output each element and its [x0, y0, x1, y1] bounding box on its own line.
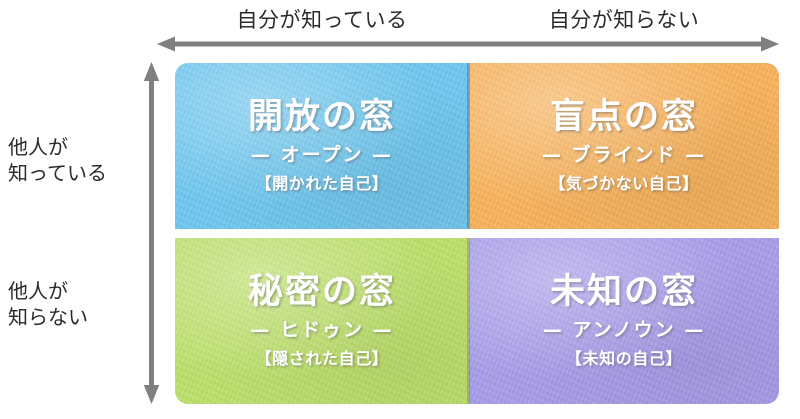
quadrant-unknown-subtitle: — アンノウン — [543, 320, 706, 341]
quadrant-hidden[interactable]: 秘密の窓 — ヒドゥン — 【隠された自己】 [175, 238, 469, 404]
axis-label-others-known: 他人が 知っている [8, 134, 134, 187]
double-arrow-vertical-icon [143, 62, 160, 404]
quadrant-open-note: 【開かれた自己】 [256, 175, 389, 193]
axis-label-others-unknown: 他人が 知らない [8, 278, 134, 331]
quadrant-open[interactable]: 開放の窓 — オープン — 【開かれた自己】 [175, 63, 469, 229]
quadrant-vertical-divider-lower [467, 238, 470, 404]
quadrant-blind-note: 【気づかない自己】 [549, 175, 698, 193]
quadrant-blind-subtitle: — ブラインド — [542, 145, 706, 166]
quadrant-blind-title: 盲点の窓 [550, 99, 698, 136]
quadrant-hidden-note: 【隠された自己】 [256, 350, 389, 368]
axis-label-others-unknown-line1: 他人が [8, 279, 68, 303]
quadrant-hidden-subtitle: — ヒドゥン — [250, 320, 393, 341]
quadrant-open-title: 開放の窓 [248, 99, 396, 136]
quadrant-unknown[interactable]: 未知の窓 — アンノウン — 【未知の自己】 [469, 238, 779, 404]
axis-label-others-known-line2: 知っている [8, 160, 134, 186]
quadrant-unknown-title: 未知の窓 [550, 274, 698, 311]
quadrant-hidden-title: 秘密の窓 [248, 274, 396, 311]
axis-label-self-unknown: 自分が知らない [469, 4, 779, 34]
quadrant-unknown-note: 【未知の自己】 [566, 350, 682, 368]
axis-label-self-known: 自分が知っている [175, 4, 469, 34]
quadrant-open-subtitle: — オープン — [251, 145, 393, 166]
axis-label-others-known-line1: 他人が [8, 135, 68, 159]
axis-label-others-unknown-line2: 知らない [8, 304, 134, 330]
quadrant-vertical-divider-upper [467, 63, 470, 229]
quadrant-grid: 開放の窓 — オープン — 【開かれた自己】 盲点の窓 — ブラインド — 【気… [175, 63, 779, 404]
double-arrow-horizontal-icon [157, 36, 779, 52]
quadrant-blind[interactable]: 盲点の窓 — ブラインド — 【気づかない自己】 [469, 63, 779, 229]
johari-window-diagram: 自分が知っている 自分が知らない 他人が 知っている 他人が 知らない 開放の窓… [0, 0, 800, 419]
